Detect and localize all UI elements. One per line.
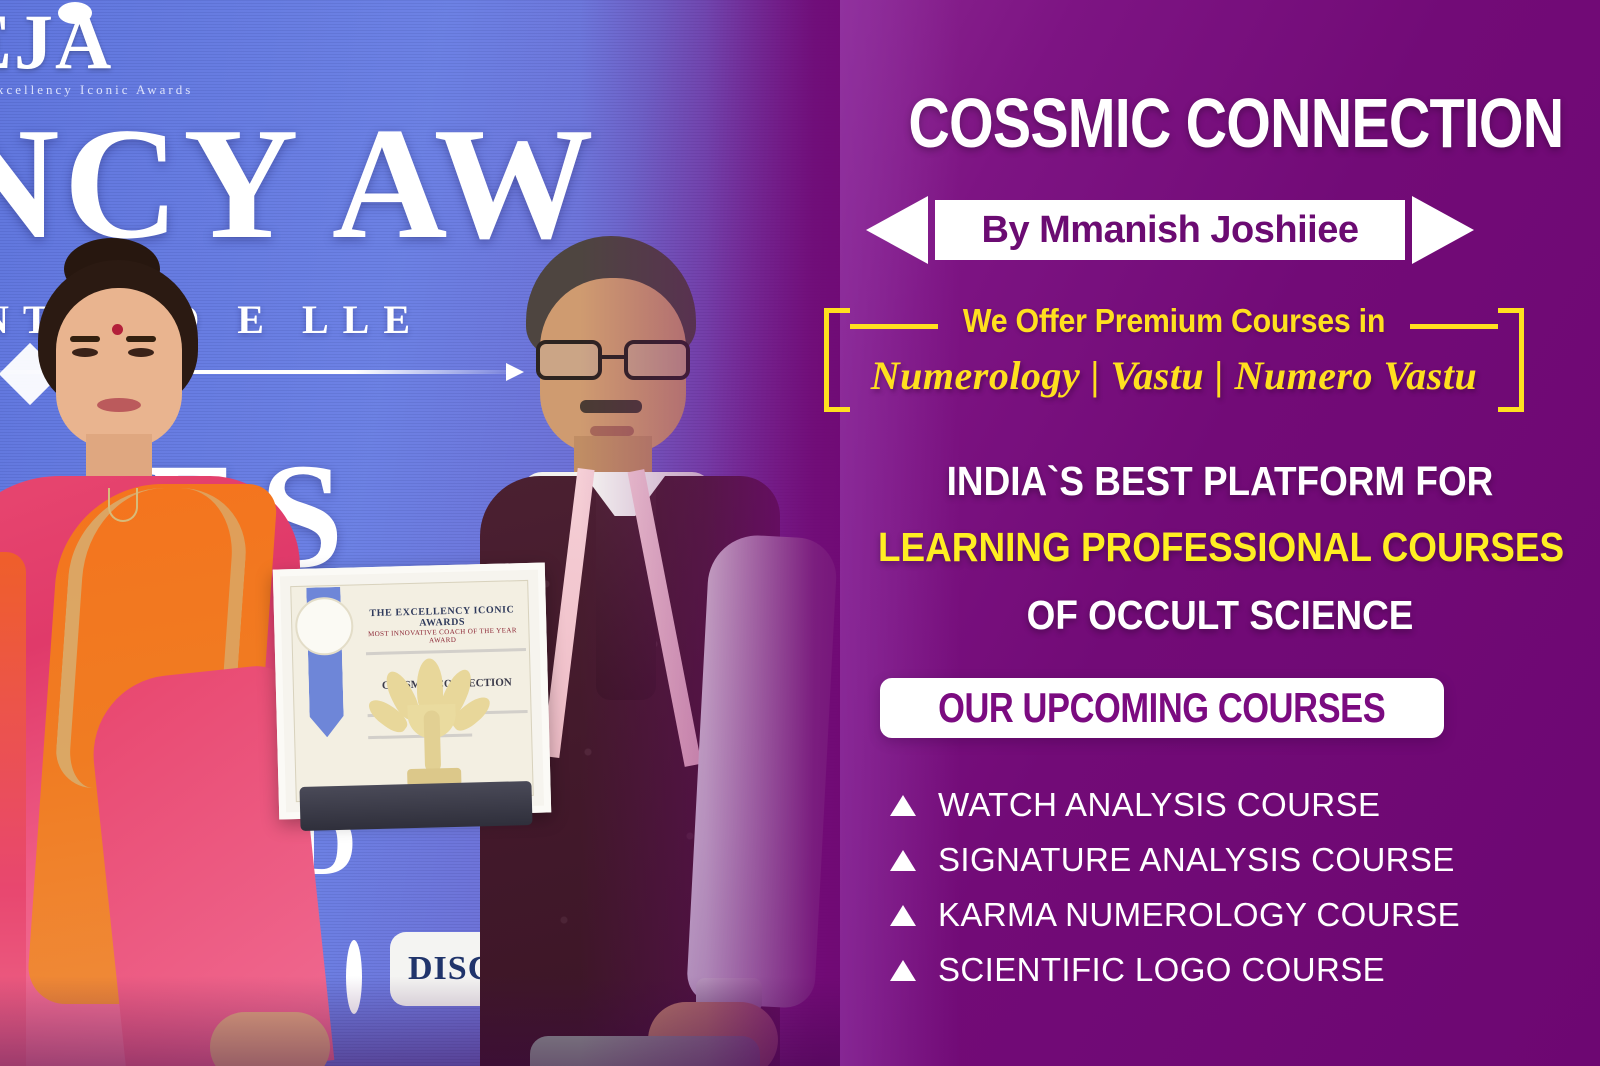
woman-eyebrow-right xyxy=(126,336,156,342)
triangle-bullet-icon xyxy=(890,795,916,816)
list-item[interactable]: WATCH ANALYSIS COURSE xyxy=(890,778,1590,832)
offer-subjects: Numerology | Vastu | Numero Vastu xyxy=(824,352,1524,399)
tagline-line-3: OF OCCULT SCIENCE xyxy=(878,592,1562,639)
woman-lips xyxy=(97,398,141,412)
tagline-line-2: LEARNING PROFESSIONAL COURSES xyxy=(878,524,1562,571)
woman-eye-left xyxy=(72,348,98,357)
tagline-line-1: INDIA`S BEST PLATFORM FOR xyxy=(878,458,1562,505)
byline-plate: By Mmanish Joshiiee xyxy=(935,200,1405,260)
triangle-bullet-icon xyxy=(890,905,916,926)
list-item[interactable]: SCIENTIFIC LOGO COURSE xyxy=(890,943,1590,997)
course-label: WATCH ANALYSIS COURSE xyxy=(938,786,1380,824)
photo-bottom-fade xyxy=(0,976,880,1066)
woman-eyebrow-left xyxy=(70,336,100,342)
premium-courses-block: We Offer Premium Courses in Numerology |… xyxy=(824,308,1524,412)
course-label: SCIENTIFIC LOGO COURSE xyxy=(938,951,1385,989)
course-list: WATCH ANALYSIS COURSE SIGNATURE ANALYSIS… xyxy=(890,778,1590,998)
photo-right-fade xyxy=(580,0,880,1066)
woman-necklace xyxy=(108,488,138,522)
woman-figure xyxy=(0,252,320,1066)
gold-trophy-icon xyxy=(386,657,486,799)
offer-heading: We Offer Premium Courses in xyxy=(852,302,1496,340)
eja-logo-text: EJA xyxy=(0,0,113,85)
page-title: COSSMIC CONNECTION xyxy=(908,88,1531,158)
list-item[interactable]: SIGNATURE ANALYSIS COURSE xyxy=(890,833,1590,887)
byline-gap xyxy=(928,196,935,264)
plaque-stand xyxy=(299,781,532,831)
arrow-right-icon xyxy=(1412,196,1474,264)
eja-logo-dot xyxy=(58,2,92,24)
byline-gap xyxy=(1405,196,1412,264)
course-label: SIGNATURE ANALYSIS COURSE xyxy=(938,841,1455,879)
arrow-left-icon xyxy=(866,196,928,264)
award-ceremony-photo: EJA Excellency Iconic Awards NCY AW NT A… xyxy=(0,0,880,1066)
woman-bindi xyxy=(112,324,123,335)
upcoming-courses-label: OUR UPCOMING COURSES xyxy=(938,684,1385,732)
promotional-banner: EJA Excellency Iconic Awards NCY AW NT A… xyxy=(0,0,1600,1066)
trophy-stem xyxy=(424,710,442,772)
woman-eye-right xyxy=(128,348,154,357)
byline-banner: By Mmanish Joshiiee xyxy=(866,196,1474,264)
triangle-bullet-icon xyxy=(890,960,916,981)
byline-text: By Mmanish Joshiiee xyxy=(982,209,1359,252)
upcoming-courses-pill: OUR UPCOMING COURSES xyxy=(880,678,1444,738)
list-item[interactable]: KARMA NUMEROLOGY COURSE xyxy=(890,888,1590,942)
course-label: KARMA NUMEROLOGY COURSE xyxy=(938,896,1460,934)
woman-face xyxy=(56,288,182,448)
triangle-bullet-icon xyxy=(890,850,916,871)
